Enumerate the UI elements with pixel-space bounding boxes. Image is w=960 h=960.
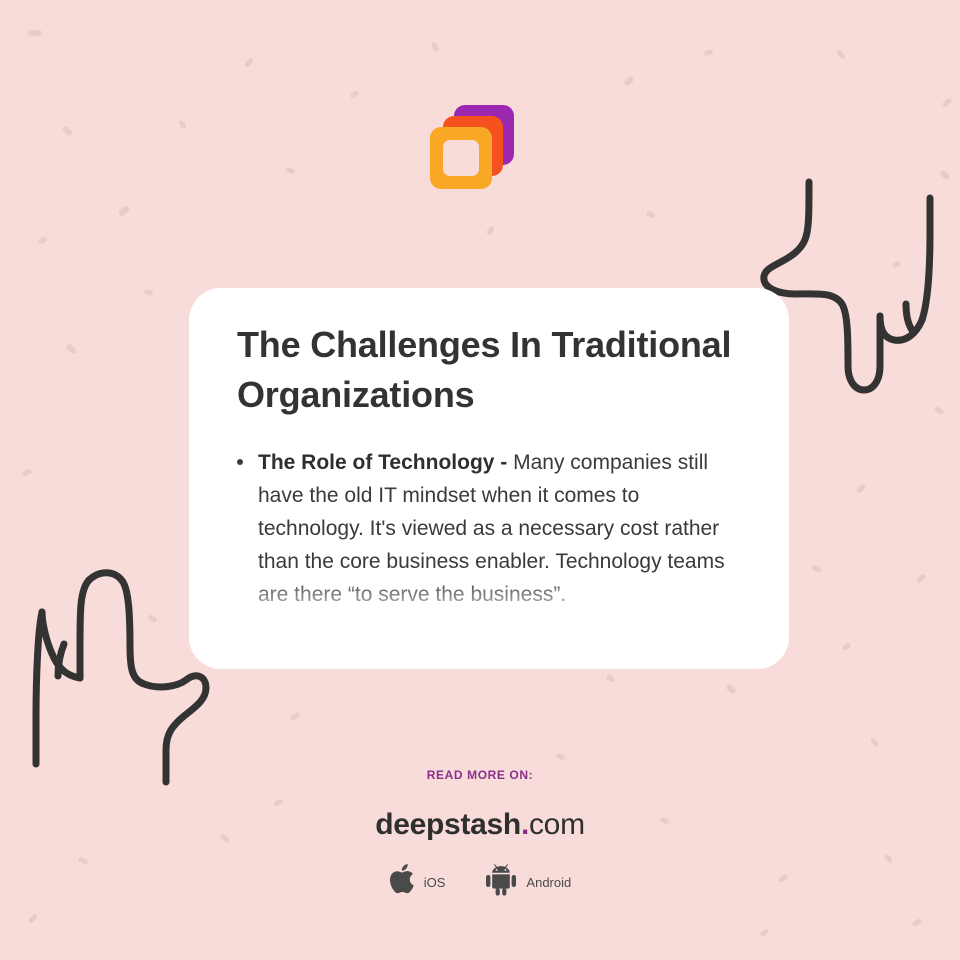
confetti-speck (28, 30, 42, 36)
confetti-speck (37, 236, 47, 244)
bullet-list: The Role of Technology - Many companies … (237, 446, 741, 611)
confetti-speck (725, 683, 736, 694)
confetti-speck (555, 753, 565, 761)
confetti-speck (178, 119, 187, 129)
poster-canvas: The Challenges In Traditional Organizati… (0, 0, 960, 960)
page-title: The Challenges In Traditional Organizati… (237, 320, 741, 420)
logo-center-cutout (443, 140, 479, 176)
confetti-speck (285, 167, 295, 175)
read-more-label: READ MORE ON: (0, 768, 960, 782)
apple-icon (389, 864, 415, 901)
confetti-speck (349, 90, 359, 99)
confetti-speck (811, 564, 821, 572)
confetti-speck (144, 289, 154, 296)
confetti-speck (244, 57, 254, 68)
confetti-speck (933, 406, 944, 416)
confetti-speck (623, 75, 634, 86)
confetti-speck (856, 483, 866, 494)
confetti-speck (911, 918, 922, 927)
bullet-body-text: Many companies still have the old IT min… (258, 451, 725, 606)
confetti-speck (891, 260, 901, 269)
deepstash-logo (430, 105, 514, 193)
confetti-speck (841, 642, 851, 651)
ios-store-label: iOS (424, 875, 446, 890)
ios-store-badge[interactable]: iOS (389, 864, 446, 901)
confetti-speck (430, 41, 439, 52)
android-store-badge[interactable]: Android (485, 864, 571, 901)
bullet-lead-text: The Role of Technology - (258, 451, 507, 474)
content-card: The Challenges In Traditional Organizati… (189, 288, 789, 669)
android-icon (485, 864, 517, 901)
confetti-speck (147, 614, 157, 623)
android-store-label: Android (526, 875, 571, 890)
confetti-speck (28, 913, 39, 924)
app-store-badges: iOS And (0, 864, 960, 901)
confetti-speck (916, 573, 927, 583)
confetti-speck (939, 169, 951, 180)
brand-wordmark: deepstash.com (0, 808, 960, 842)
confetti-speck (117, 205, 130, 217)
brand-dot-accent: . (521, 808, 529, 841)
confetti-speck (21, 468, 32, 477)
confetti-speck (836, 49, 846, 60)
card-content: The Challenges In Traditional Organizati… (189, 288, 789, 611)
confetti-speck (870, 737, 880, 747)
confetti-speck (61, 125, 73, 137)
confetti-speck (605, 674, 615, 683)
brand-name-text: deepstash (375, 808, 521, 841)
confetti-speck (703, 49, 713, 57)
confetti-speck (942, 97, 953, 107)
confetti-speck (759, 928, 769, 937)
footer: READ MORE ON: deepstash.com iOS (0, 768, 960, 901)
confetti-speck (645, 210, 655, 219)
confetti-speck (486, 225, 495, 235)
list-item: The Role of Technology - Many companies … (258, 446, 741, 611)
brand-tld-text: com (529, 808, 585, 841)
confetti-speck (289, 712, 300, 722)
bullet-dot-icon (237, 459, 243, 465)
confetti-speck (65, 343, 77, 355)
